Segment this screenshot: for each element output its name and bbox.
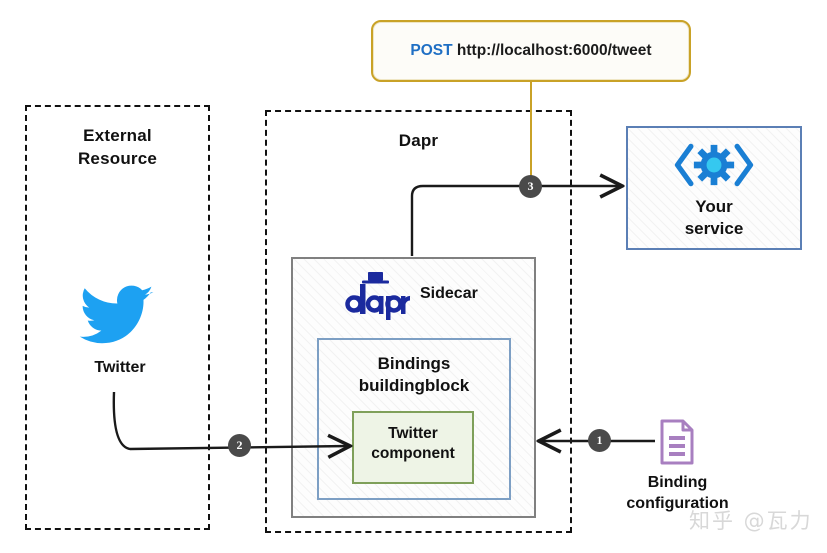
twitter-component-box: Twitter component (352, 411, 474, 484)
post-method-label: POST (410, 42, 452, 59)
step-badge-1: 1 (588, 429, 611, 452)
watermark: 知乎 @瓦力 (689, 505, 813, 535)
post-callout-box: POST http://localhost:6000/tweet (371, 20, 691, 82)
bindings-buildingblock-label: Bindings buildingblock (319, 353, 509, 397)
panel-external-resource-title: External Resource (27, 125, 208, 171)
step-badge-2: 2 (228, 434, 251, 457)
document-config-icon (657, 418, 697, 466)
step-badge-3: 3 (519, 175, 542, 198)
dapr-logo (340, 272, 410, 320)
sidecar-label: Sidecar (420, 285, 478, 303)
twitter-bird-icon (72, 277, 162, 352)
post-url-label: http://localhost:6000/tweet (457, 42, 652, 59)
callout-connector-line (530, 82, 532, 187)
twitter-label: Twitter (60, 358, 180, 379)
your-service-label: Your service (626, 196, 802, 240)
post-callout-text: POST http://localhost:6000/tweet (410, 42, 651, 60)
code-gear-icon (673, 141, 755, 189)
twitter-component-label: Twitter component (354, 424, 472, 464)
diagram-canvas: External Resource Twitter Dapr (0, 0, 827, 553)
panel-dapr-title: Dapr (267, 130, 570, 153)
